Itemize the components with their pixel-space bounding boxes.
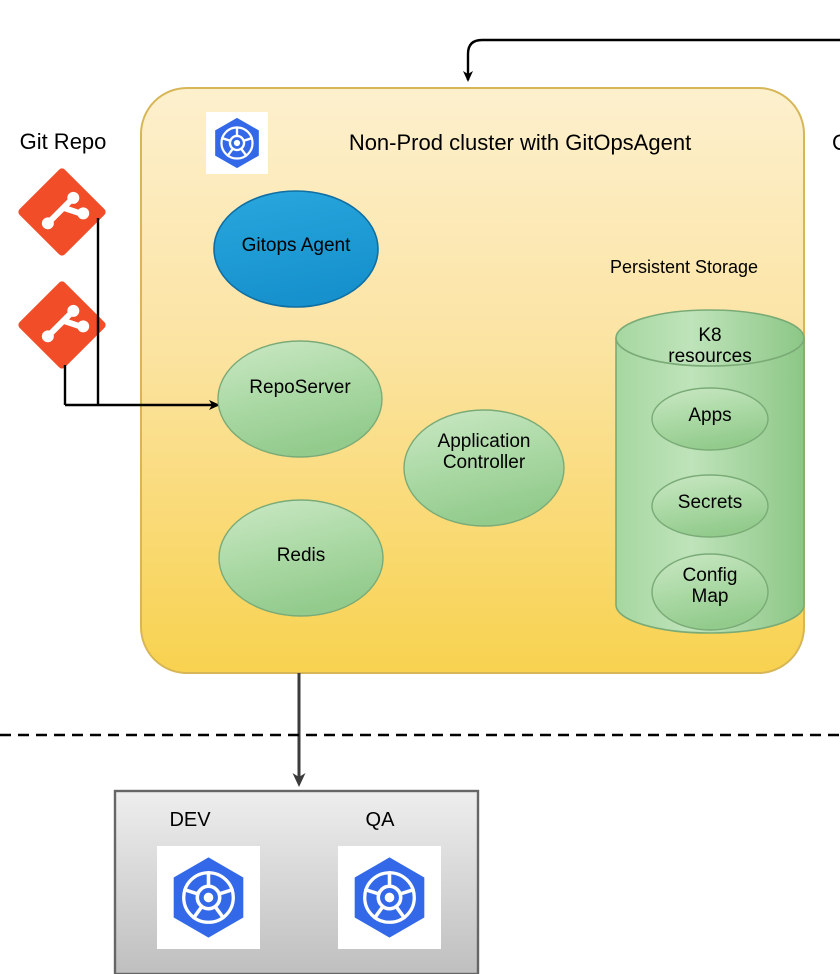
k8-resources-label-line1: K8 [698,325,721,346]
diagram-text-layer: Git Repo Non-Prod cluster with GitOpsAge… [0,0,840,974]
storage-item-secrets-label: Secrets [655,492,765,513]
repo-server-label: RepoServer [220,377,380,398]
storage-item-apps-label: Apps [663,405,757,426]
environment-dev-label: DEV [140,809,240,831]
k8-resources-label-line2: resources [668,346,751,367]
config-map-label-line1: Config [683,565,738,586]
config-map-label-line2: Map [692,586,729,607]
clipped-edge-text: G [832,131,840,156]
git-repo-label: Git Repo [0,130,126,155]
application-controller-label: ApplicationController [408,431,560,474]
storage-item-config-map-label: ConfigMap [664,565,756,608]
cluster-title: Non-Prod cluster with GitOpsAgent [290,131,750,156]
persistent-storage-label: Persistent Storage [578,257,790,277]
gitops-agent-label: Gitops Agent [214,235,378,256]
redis-label: Redis [222,545,380,566]
application-controller-label-line2: Controller [443,452,525,473]
application-controller-label-line1: Application [438,431,531,452]
environment-qa-label: QA [330,809,430,831]
diagram-canvas: Git Repo Non-Prod cluster with GitOpsAge… [0,0,840,974]
k8-resources-label: K8resources [627,325,793,368]
